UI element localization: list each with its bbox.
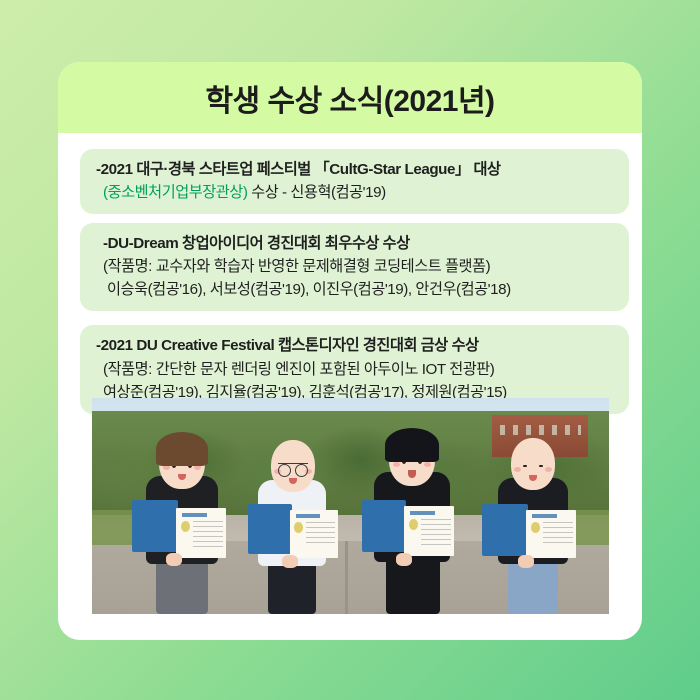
student-4-certificate: [526, 510, 576, 558]
ministry-prize-label: (중소벤처기업부장관상): [103, 184, 247, 201]
student-1-certificate: [176, 508, 226, 558]
student-4-mouth: [529, 475, 537, 481]
award-block-1: -2021 대구·경북 스타트업 페스티벌 「CultG-Star League…: [80, 149, 629, 214]
student-4: [482, 424, 582, 614]
student-1-cert-seal: [181, 521, 190, 532]
student-4-eye-left: [523, 465, 527, 467]
header-band: 학생 수상 소식(2021년): [58, 62, 642, 133]
student-3-cert-header: [410, 511, 435, 515]
award-detail-1-1: (중소벤처기업부장관상) 수상 - 신용혁(컴공'19): [96, 181, 613, 204]
award-members-2: 이승욱(컴공'16), 서보성(컴공'19), 이진우(컴공'19), 안건우(…: [96, 278, 613, 301]
student-3-hair: [385, 428, 439, 462]
student-4-cheek-left: [514, 467, 521, 472]
student-3-cert-text: [421, 519, 451, 545]
student-4-eye-right: [539, 465, 543, 467]
award-recipient-1: 수상 - 신용혁(컴공'19): [247, 184, 385, 201]
student-3-folder: [362, 500, 406, 552]
award-work-2: (작품명: 교수자와 학습자 반영한 문제해결형 코딩테스트 플랫폼): [96, 255, 613, 278]
award-ceremony-photo: [92, 398, 609, 614]
student-1-folder: [132, 500, 178, 552]
student-4-head: [511, 438, 555, 490]
student-4-cert-text: [543, 522, 573, 547]
student-4-hand: [518, 555, 534, 568]
page-title: 학생 수상 소식(2021년): [205, 76, 494, 120]
student-1-cert-text: [193, 521, 223, 547]
student-2-cert-text: [306, 522, 335, 547]
student-1-mouth: [178, 474, 186, 480]
student-2-certificate: [290, 510, 338, 558]
awards-list: -2021 대구·경북 스타트업 페스티벌 「CultG-Star League…: [80, 149, 629, 414]
student-3-cert-seal: [409, 519, 418, 530]
student-1-hand: [166, 553, 182, 566]
student-2-cert-header: [296, 514, 320, 518]
student-3: [360, 416, 465, 614]
award-title-3: -2021 DU Creative Festival 캡스톤디자인 경진대회 금…: [96, 334, 613, 357]
student-2-hand: [282, 555, 298, 568]
student-3-cheek-right: [424, 462, 431, 467]
student-3-certificate: [404, 506, 454, 556]
student-2: [242, 424, 342, 614]
award-title-2: -DU-Dream 창업아이디어 경진대회 최우수상 수상: [96, 232, 613, 255]
student-2-mouth: [289, 478, 297, 484]
student-3-hand: [396, 553, 412, 566]
student-4-folder: [482, 504, 528, 556]
photo-road-line: [345, 541, 348, 614]
student-2-folder: [248, 504, 292, 554]
student-1-cert-header: [182, 513, 207, 517]
student-4-cheek-right: [545, 467, 552, 472]
student-1: [132, 419, 232, 614]
content-card: 학생 수상 소식(2021년) -2021 대구·경북 스타트업 페스티벌 「C…: [58, 62, 642, 640]
award-work-3: (작품명: 간단한 문자 렌더링 엔진이 포함된 아두이노 IOT 전광판): [96, 358, 613, 381]
student-3-cheek-left: [393, 462, 400, 467]
award-block-2: -DU-Dream 창업아이디어 경진대회 최우수상 수상 (작품명: 교수자와…: [80, 223, 629, 311]
poster-canvas: 학생 수상 소식(2021년) -2021 대구·경북 스타트업 페스티벌 「C…: [0, 0, 700, 700]
student-1-hair: [156, 432, 208, 466]
student-2-glasses: [278, 463, 308, 474]
student-2-cert-seal: [294, 522, 303, 533]
student-4-cert-seal: [531, 522, 540, 533]
student-2-head: [271, 440, 315, 492]
student-3-mouth: [408, 470, 416, 478]
award-title-1: -2021 대구·경북 스타트업 페스티벌 「CultG-Star League…: [96, 158, 613, 181]
student-4-cert-header: [532, 514, 557, 518]
